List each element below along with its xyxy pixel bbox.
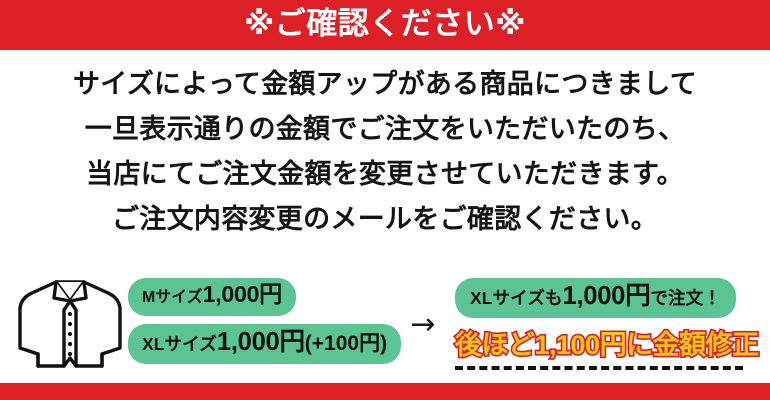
price-pill-m-size: Mサイズ1,000円 xyxy=(128,278,296,316)
price-correction-text: 後ほど1,100円に金額修正 xyxy=(455,328,750,362)
banner-title: ※ご確認ください※ xyxy=(0,0,770,50)
price-pill-xl-size: XLサイズ1,000円(+100円) xyxy=(128,324,401,364)
xl-order-price: 1,000円 xyxy=(563,282,651,310)
notice-banner: ※ご確認ください※ サイズによって金額アップがある商品につきまして 一旦表示通り… xyxy=(0,0,770,400)
xl-size-surcharge: (+100円) xyxy=(305,332,387,355)
notice-line-3: 当店にてご注文金額を変更させていただきます。 xyxy=(0,152,770,197)
xl-order-label: XLサイズ xyxy=(470,288,545,308)
notice-body: サイズによって金額アップがある商品につきまして 一旦表示通りの金額でご注文をいた… xyxy=(0,62,770,242)
m-size-label: Mサイズ xyxy=(142,289,203,306)
transition-arrow: → xyxy=(394,310,452,340)
xl-size-label: XLサイズ xyxy=(142,334,217,354)
after-prices-column: XLサイズも1,000円で注文！ 後ほど1,100円に金額修正 xyxy=(455,278,750,370)
notice-line-4: ご注文内容変更のメールをご確認ください。 xyxy=(0,197,770,242)
arrow-right-icon: → xyxy=(410,307,435,342)
price-pill-xl-order: XLサイズも1,000円で注文！ xyxy=(455,278,736,318)
footer-red-band xyxy=(0,383,770,400)
m-size-price: 1,000円 xyxy=(203,281,282,307)
notice-line-1: サイズによって金額アップがある商品につきまして xyxy=(0,62,770,107)
xl-order-note: も xyxy=(545,288,563,308)
xl-order-suffix: で注文！ xyxy=(650,288,721,308)
notice-line-2: 一旦表示通りの金額でご注文をいただいたのち、 xyxy=(0,107,770,152)
correction-underline xyxy=(455,366,743,370)
dress-shirt-icon xyxy=(16,274,124,374)
xl-size-price: 1,000円 xyxy=(217,328,305,356)
before-prices-column: Mサイズ1,000円 XLサイズ1,000円(+100円) xyxy=(128,278,390,364)
price-comparison-row: Mサイズ1,000円 XLサイズ1,000円(+100円) → XLサイズも1,… xyxy=(0,266,770,378)
